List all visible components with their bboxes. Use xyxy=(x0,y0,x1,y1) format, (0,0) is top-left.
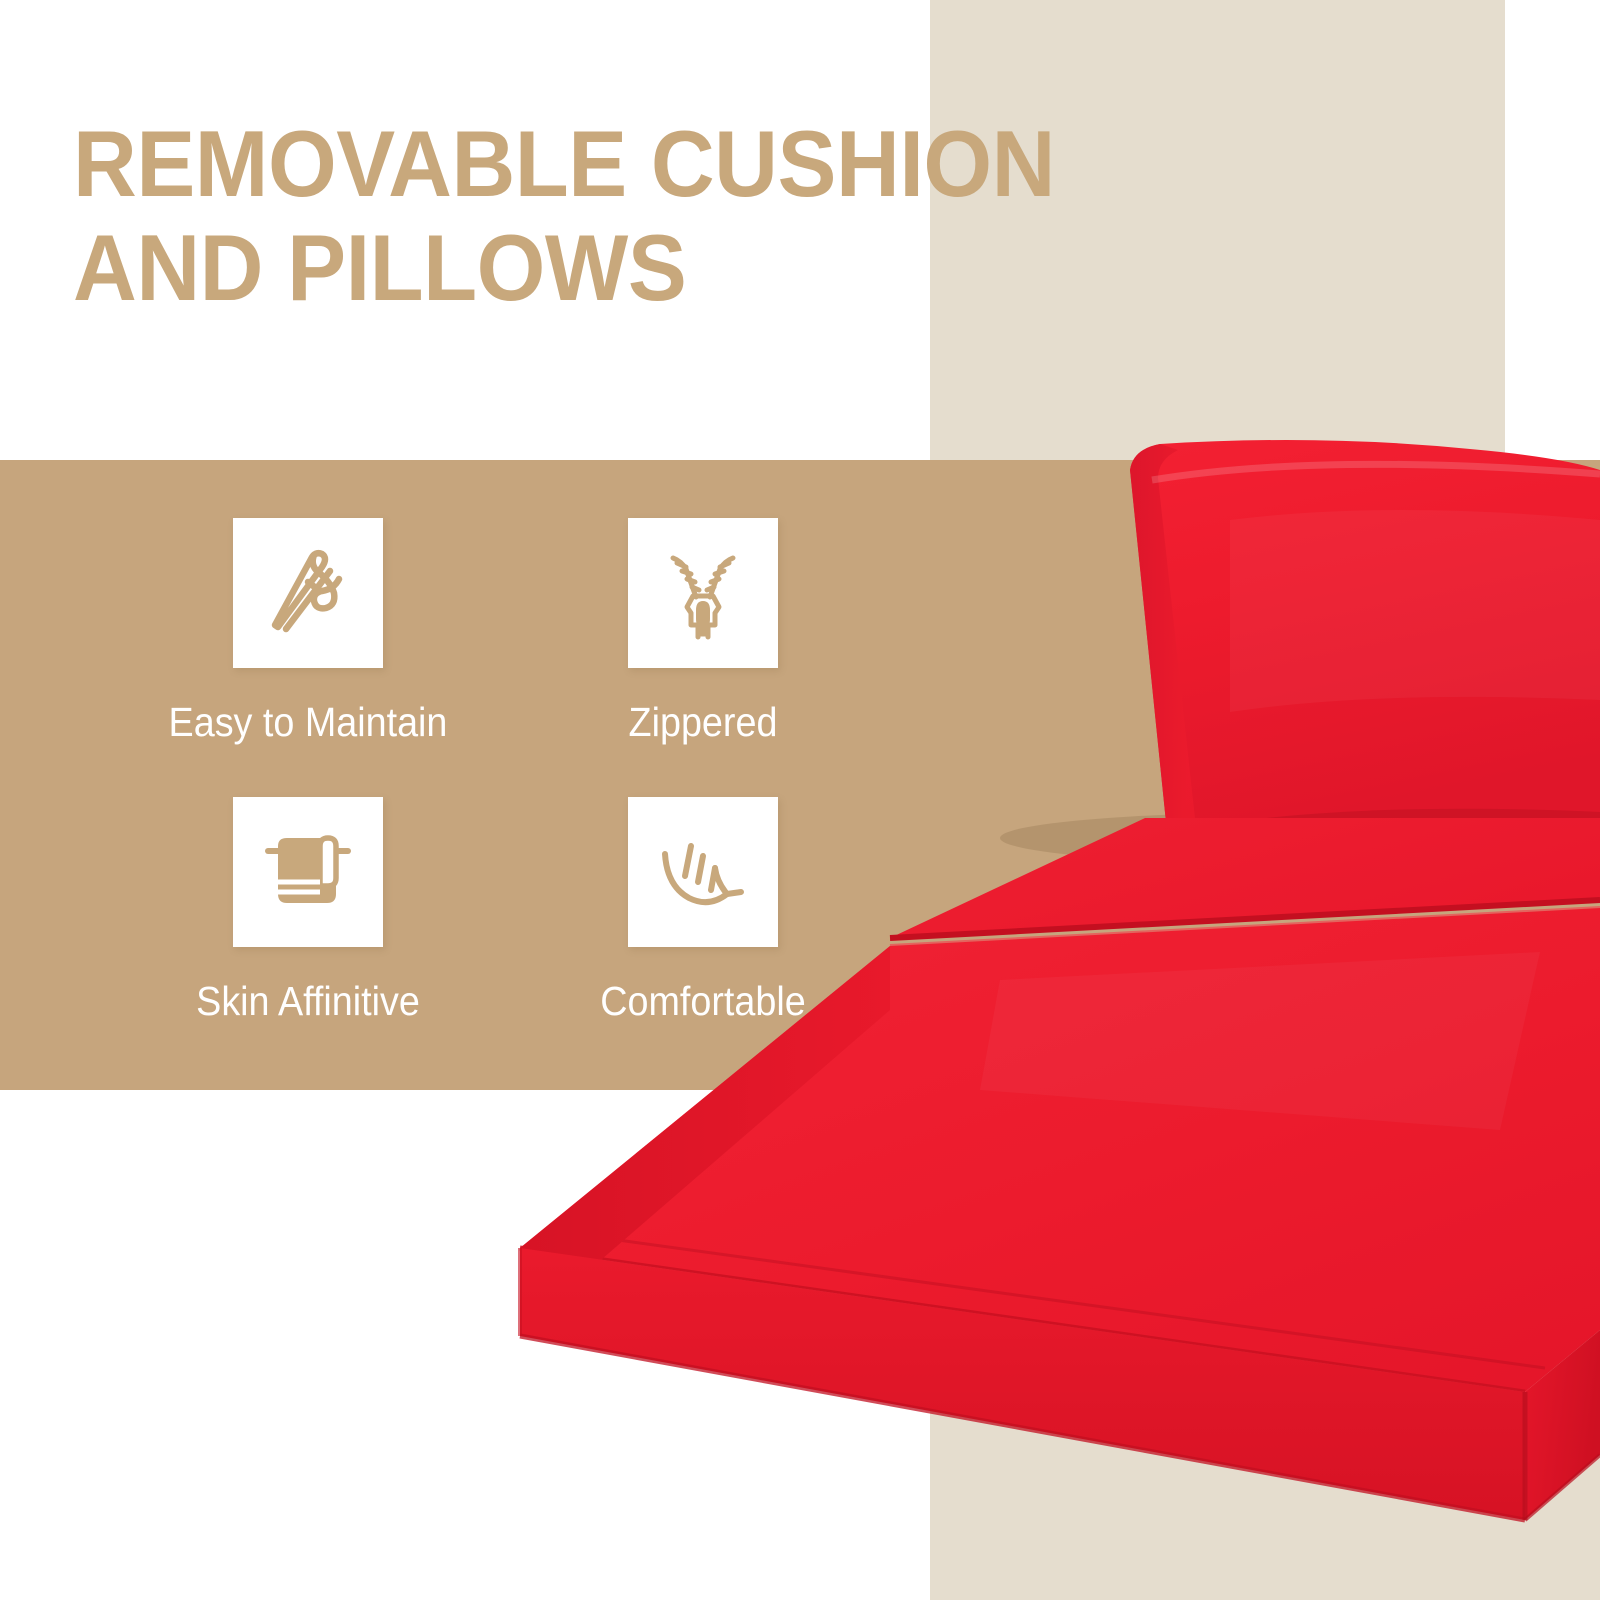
icon-card xyxy=(233,797,383,947)
icon-card xyxy=(628,797,778,947)
folded-towel-icon xyxy=(256,820,360,924)
feature-item-comfortable: Comfortable xyxy=(505,797,901,1025)
feature-item-zippered: Zippered xyxy=(505,518,901,746)
feature-label: Skin Affinitive xyxy=(126,977,490,1025)
feather-icon xyxy=(651,820,755,924)
product-feature-banner: REMOVABLE CUSHION AND PILLOWS xyxy=(0,0,1600,1600)
feature-label: Comfortable xyxy=(521,977,885,1025)
icon-card xyxy=(233,518,383,668)
feature-label: Easy to Maintain xyxy=(126,698,490,746)
page-title: REMOVABLE CUSHION AND PILLOWS xyxy=(73,112,1069,320)
feature-item-easy-to-maintain: Easy to Maintain xyxy=(110,518,506,746)
feature-item-skin-affinitive: Skin Affinitive xyxy=(110,797,506,1025)
feature-label: Zippered xyxy=(521,698,885,746)
background-beige-lower-block xyxy=(930,1090,1600,1600)
needle-and-thread-icon xyxy=(256,541,360,645)
feature-list: Easy to Maintain Zippered xyxy=(0,460,930,1090)
zipper-icon xyxy=(651,541,755,645)
icon-card xyxy=(628,518,778,668)
